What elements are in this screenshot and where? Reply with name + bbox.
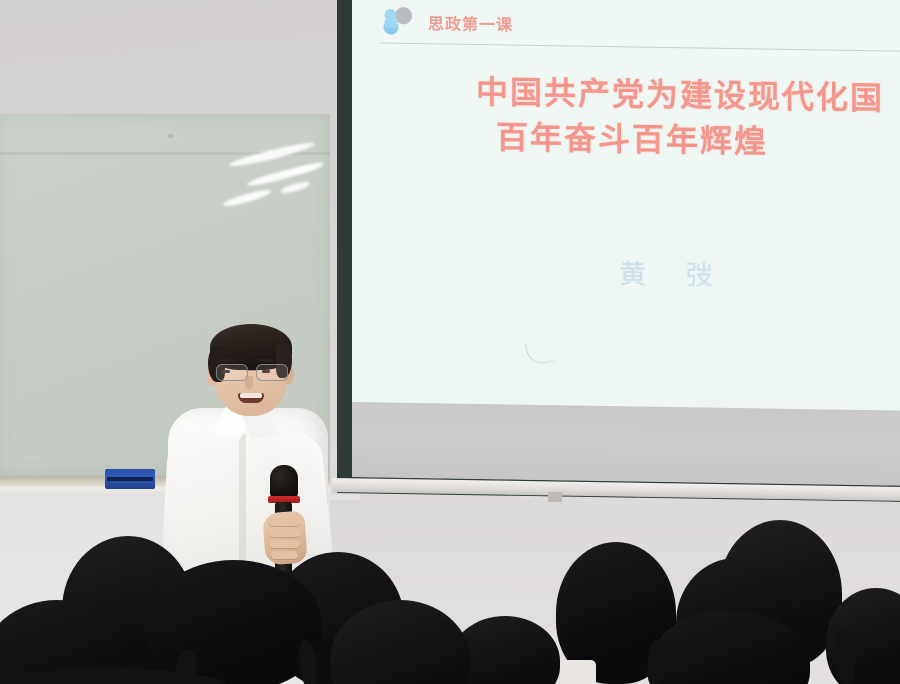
slide-title-block: 中国共产党为建设现代化国 百年奋斗百年辉煌	[352, 68, 900, 168]
slide-speaker-block: 黄 弢	[352, 248, 900, 296]
slide-header-divider	[380, 42, 900, 51]
glasses-lens-right	[256, 364, 288, 381]
sizheng-petal-logo-icon	[382, 6, 416, 37]
projection-screen-unlit-band	[352, 402, 900, 486]
slide-title-line-2: 百年奋斗百年辉煌	[352, 113, 900, 167]
presenter-finger	[269, 540, 300, 548]
whiteboard-eraser-stripe	[107, 477, 153, 481]
glasses-bridge	[246, 370, 258, 371]
audience-head	[146, 560, 322, 684]
presentation-slide: 思政第一课 中国共产党为建设现代化国 百年奋斗百年辉煌 黄 弢	[352, 0, 900, 411]
slide-header-title: 思政第一课	[428, 10, 513, 35]
slide-header: 思政第一课	[382, 4, 513, 40]
glasses-lens-left	[216, 364, 248, 381]
projection-screen-surface: 思政第一课 中国共产党为建设现代化国 百年奋斗百年辉煌 黄 弢	[352, 0, 900, 486]
audience-collar	[560, 660, 596, 684]
slide-speaker-name: 黄 弢	[619, 252, 729, 293]
slide-title-line-1: 中国共产党为建设现代化国	[448, 70, 900, 123]
lecture-photo-scene: 思政第一课 中国共产党为建设现代化国 百年奋斗百年辉煌 黄 弢	[0, 0, 900, 684]
whiteboard-mark	[168, 134, 173, 138]
projection-screen-pull-tab	[548, 492, 562, 502]
presenter-finger	[268, 529, 301, 537]
presenter-finger	[271, 551, 298, 559]
microphone-head-icon	[270, 465, 298, 499]
presenter-nose	[245, 376, 253, 389]
presenter-teeth	[240, 393, 262, 398]
screen-surface-smudge	[525, 339, 554, 366]
presenter-finger	[268, 518, 300, 526]
